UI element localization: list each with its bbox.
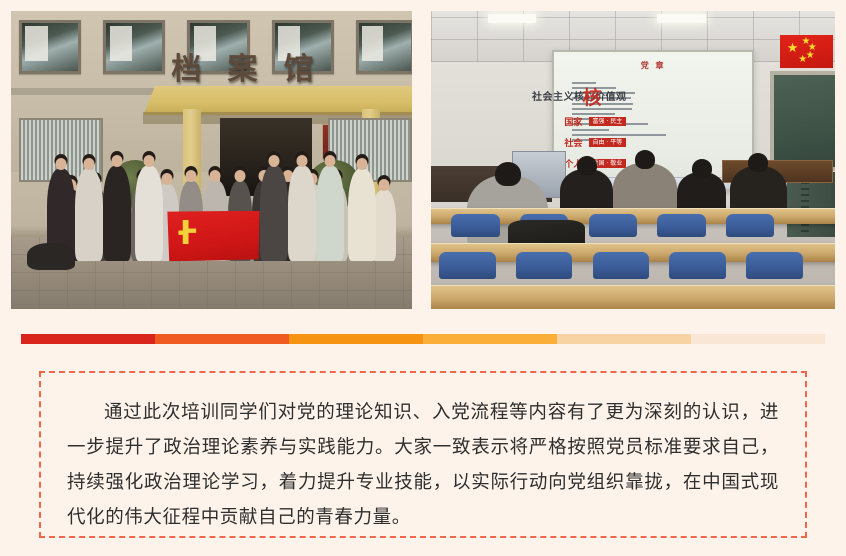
person-in-group <box>260 166 288 261</box>
seat <box>451 214 499 238</box>
divider-segment-4 <box>423 334 557 344</box>
person-in-group <box>288 166 316 261</box>
wall-slogan-row-label-1: 国家 <box>564 115 582 128</box>
person-in-group <box>316 166 344 261</box>
divider-segment-3 <box>289 334 423 344</box>
building-name-char-1: 档 <box>171 44 202 88</box>
divider-segment-6 <box>691 334 825 344</box>
building-window <box>356 20 412 74</box>
wall-slogan-row-label-2: 社会 <box>564 136 582 149</box>
hammer-sickle-emblem <box>178 220 202 244</box>
summary-paragraph: 通过此次培训同学们对党的理论知识、入党流程等内容有了更为深刻的认识，进一步提升了… <box>67 395 779 535</box>
wall-slogan-row-values-2: 自由 · 平等 <box>589 138 627 147</box>
person-in-group <box>103 166 131 261</box>
seat <box>589 214 637 238</box>
group-photo-archives-building[interactable]: 档案馆 <box>11 11 412 309</box>
wall-slogan-row-values-1: 富强 · 民主 <box>589 117 627 126</box>
building-window <box>19 20 81 74</box>
seat <box>593 252 650 279</box>
seat <box>746 252 803 279</box>
communist-party-flag <box>167 211 259 262</box>
chinese-national-flag: ★ ★ ★ ★ ★ <box>780 35 833 68</box>
bag-on-ground <box>27 243 75 270</box>
person-in-group <box>348 169 376 261</box>
building-name-char-3: 馆 <box>284 44 315 88</box>
slide-title: 党 章 <box>641 60 666 71</box>
wall-slogan-core-character: 核 <box>583 83 602 110</box>
seat <box>516 252 573 279</box>
summary-text-panel: 通过此次培训同学们对党的理论知识、入党流程等内容有了更为深刻的认识，进一步提升了… <box>39 371 807 538</box>
classroom-lecture-photo[interactable]: 党 章 ★ <box>431 11 835 309</box>
photo-row: 档案馆 党 章 <box>11 11 835 309</box>
person-in-group <box>75 169 103 261</box>
desk-row <box>431 285 835 309</box>
ceiling-light <box>657 14 705 23</box>
seat <box>726 214 774 238</box>
seat <box>657 214 705 238</box>
poster-page: 档案馆 党 章 <box>0 0 846 556</box>
divider-segment-2 <box>155 334 289 344</box>
blackboard <box>770 71 835 171</box>
building-name-char-2: 案 <box>228 44 259 88</box>
seat <box>669 252 726 279</box>
ceiling-light <box>488 14 536 23</box>
building-window <box>103 20 165 74</box>
divider-segment-5 <box>557 334 691 344</box>
person-in-group <box>135 166 163 261</box>
wall-slogan-main: 社会主义核心价值观 <box>532 88 627 103</box>
gradient-divider-bar <box>21 334 825 344</box>
divider-segment-1 <box>21 334 155 344</box>
seat <box>439 252 496 279</box>
